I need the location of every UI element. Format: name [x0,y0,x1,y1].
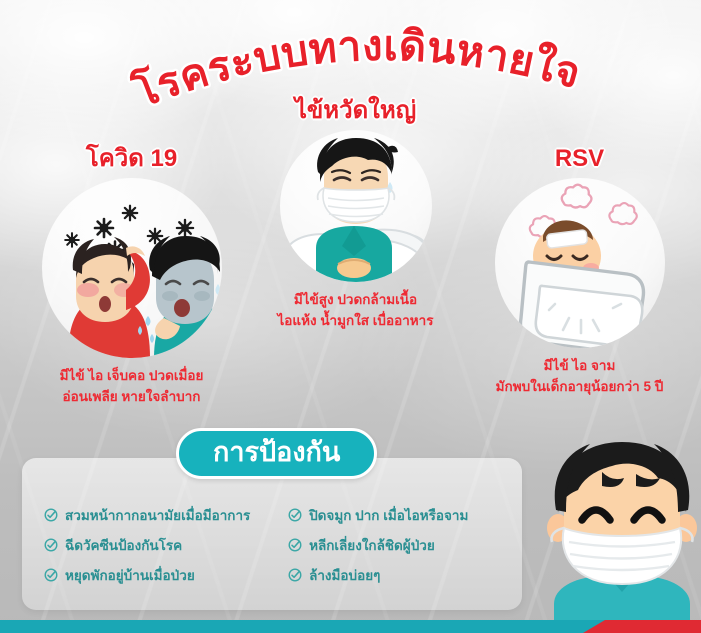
list-item: ล้างมือบ่อยๆ [288,560,522,590]
section-covid-caption-line2: อ่อนเพลีย หายใจลำบาก [14,387,249,408]
list-item: หลีกเลี่ยงใกล้ชิดผู้ป่วย [288,530,522,560]
coughing-man-figure [138,236,222,358]
prevention-item-label: ปิดจมูก ปาก เมื่อไอหรือจาม [309,504,468,526]
infographic-poster: โรคระบบทางเดินหายใจ โควิด 19 [0,0,701,633]
circle-check-icon [288,538,302,552]
prevention-item-label: ฉีดวัคซีนป้องกันโรค [65,534,182,556]
section-rsv-title: RSV [462,146,697,172]
prevention-badge: การป้องกัน [176,428,377,479]
feverish-baby-in-bed-illustration [495,178,665,348]
prevention-items: สวมหน้ากากอนามัยเมื่อมีอาการ ฉีดวัคซีนป้… [22,500,522,590]
section-rsv-caption-line2: มักพบในเด็กอายุน้อยกว่า 5 ปี [462,377,697,398]
section-covid-caption-line1: มีไข้ ไอ เจ็บคอ ปวดเมื่อย [14,366,249,387]
prevention-item-label: สวมหน้ากากอนามัยเมื่อมีอาการ [65,504,250,526]
circle-check-icon [44,538,58,552]
masked-person-resting-in-bed-illustration [280,130,432,282]
prevention-item-label: หยุดพักอยู่บ้านเมื่อป่วย [65,564,195,586]
section-covid-title: โควิด 19 [14,146,249,172]
prevention-item-label: หลีกเลี่ยงใกล้ชิดผู้ป่วย [309,534,435,556]
section-influenza-caption-line1: มีไข้สูง ปวดกล้ามเนื้อ [248,290,463,311]
boy-wearing-face-mask-illustration [540,436,701,620]
section-covid: โควิด 19 [14,146,249,408]
list-item: สวมหน้ากากอนามัยเมื่อมีอาการ [44,500,268,530]
section-rsv-caption-line1: มีไข้ ไอ จาม [462,356,697,377]
circle-check-icon [44,508,58,522]
circle-check-icon [44,568,58,582]
section-influenza-caption-line2: ไอแห้ง น้ำมูกใส เบื่ออาหาร [248,311,463,332]
circle-check-icon [288,508,302,522]
list-item: หยุดพักอยู่บ้านเมื่อป่วย [44,560,268,590]
list-item: ปิดจมูก ปาก เมื่อไอหรือจาม [288,500,522,530]
prevention-column-left: สวมหน้ากากอนามัยเมื่อมีอาการ ฉีดวัคซีนป้… [22,500,268,590]
circle-check-icon [288,568,302,582]
section-influenza-title: ไข้หวัดใหญ่ [248,98,463,124]
prevention-item-label: ล้างมือบ่อยๆ [309,564,380,586]
list-item: ฉีดวัคซีนป้องกันโรค [44,530,268,560]
prevention-column-right: ปิดจมูก ปาก เมื่อไอหรือจาม หลีกเลี่ยงใกล… [276,500,522,590]
section-influenza: ไข้หวัดใหญ่ [248,98,463,332]
section-rsv: RSV [462,146,697,398]
sick-woman-figure [68,237,150,358]
two-sick-people-with-virus-particles-illustration [42,178,222,358]
